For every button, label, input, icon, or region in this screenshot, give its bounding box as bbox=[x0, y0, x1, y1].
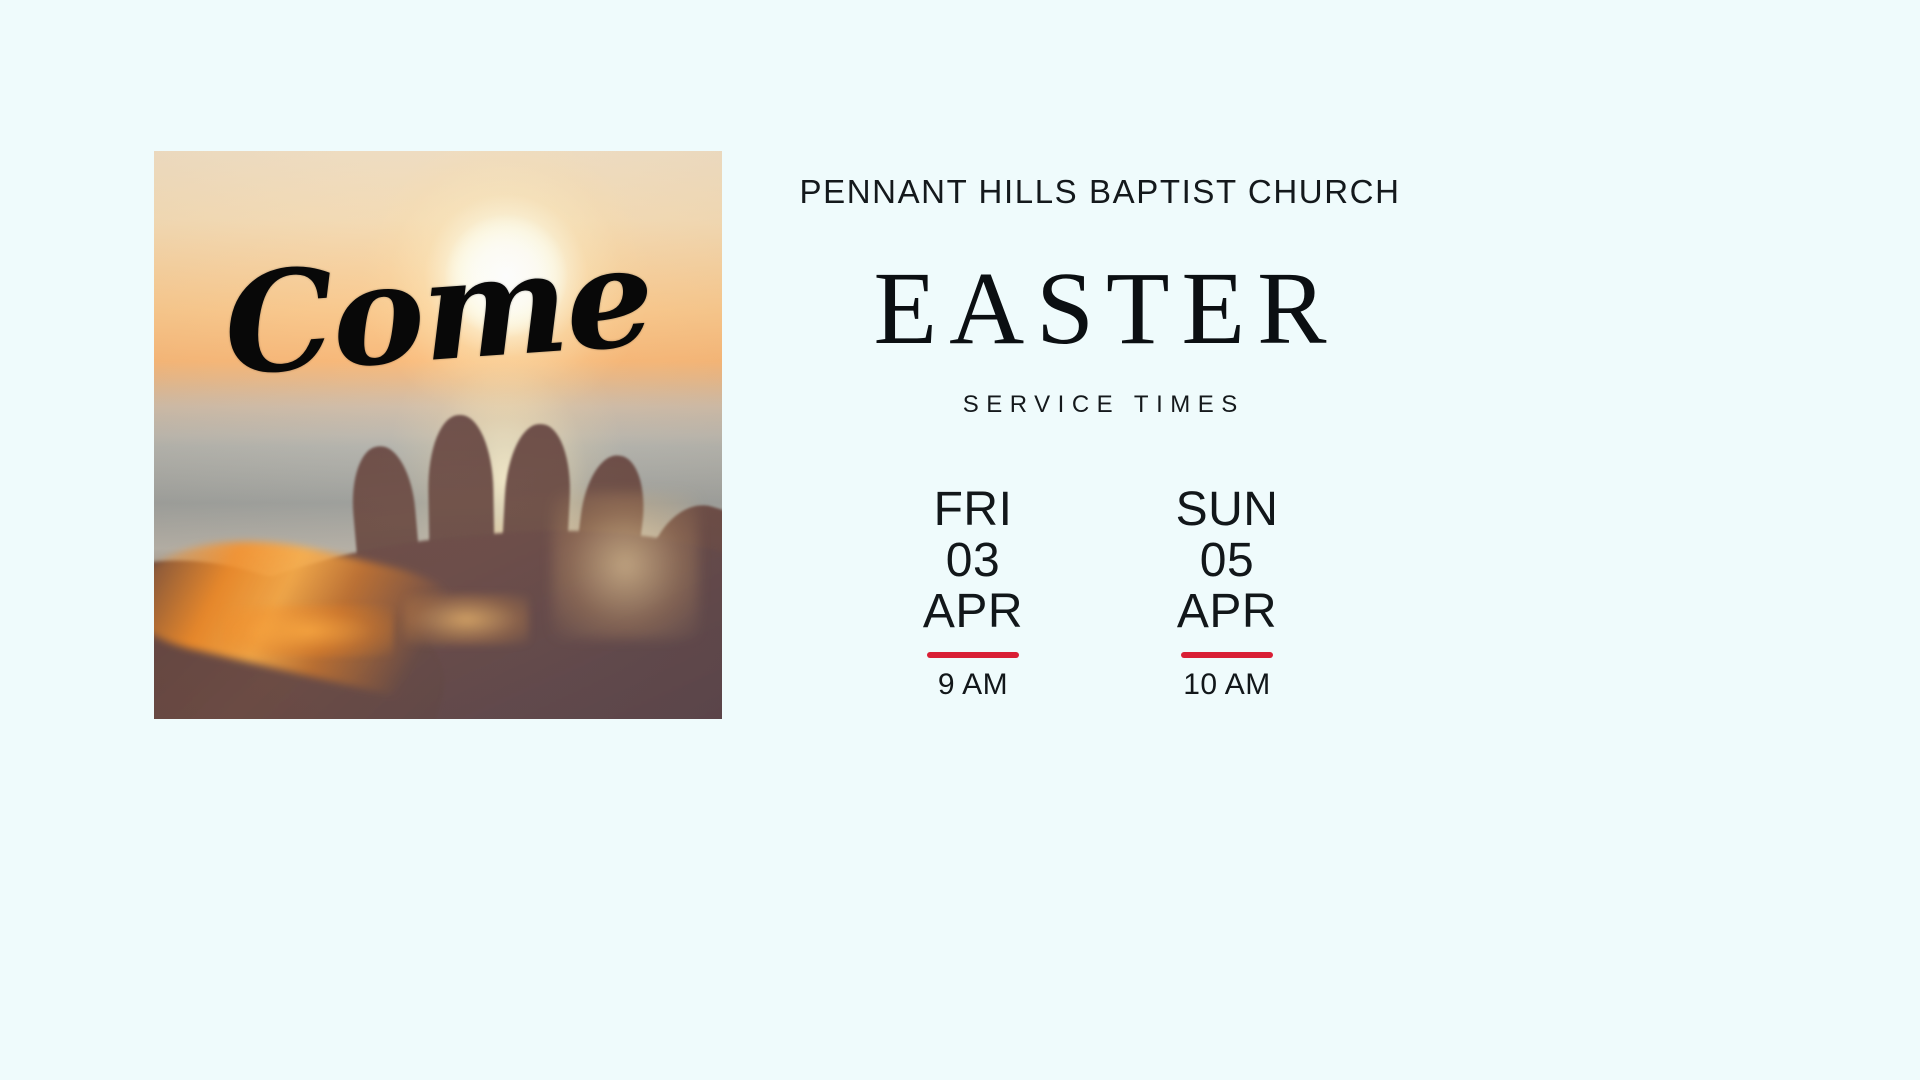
service-day: 05 bbox=[1200, 536, 1254, 587]
easter-service-poster: Come PENNANT HILLS BAPTIST CHURCH EASTER… bbox=[0, 0, 1920, 1080]
service-time: 10 AM bbox=[1183, 668, 1271, 702]
church-name: PENNANT HILLS BAPTIST CHURCH bbox=[770, 173, 1430, 211]
service-weekday: SUN bbox=[1176, 485, 1279, 536]
service-dates-row: FRI 03 APR 9 AM SUN 05 APR 10 AM bbox=[770, 485, 1430, 702]
service-day: 03 bbox=[946, 536, 1000, 587]
service-weekday: FRI bbox=[934, 485, 1013, 536]
service-divider-rule bbox=[1181, 652, 1273, 658]
service-block-sunday: SUN 05 APR 10 AM bbox=[1152, 485, 1302, 702]
service-divider-rule bbox=[927, 652, 1019, 658]
service-time: 9 AM bbox=[938, 668, 1008, 702]
service-month: APR bbox=[923, 587, 1023, 638]
page-title: EASTER bbox=[770, 257, 1430, 361]
service-block-friday: FRI 03 APR 9 AM bbox=[898, 485, 1048, 702]
come-script-text: Come bbox=[154, 222, 722, 399]
event-info-column: PENNANT HILLS BAPTIST CHURCH EASTER SERV… bbox=[770, 151, 1430, 702]
service-times-subtitle: SERVICE TIMES bbox=[770, 391, 1430, 419]
sunset-hand-photo: Come bbox=[154, 151, 722, 719]
service-month: APR bbox=[1177, 587, 1277, 638]
